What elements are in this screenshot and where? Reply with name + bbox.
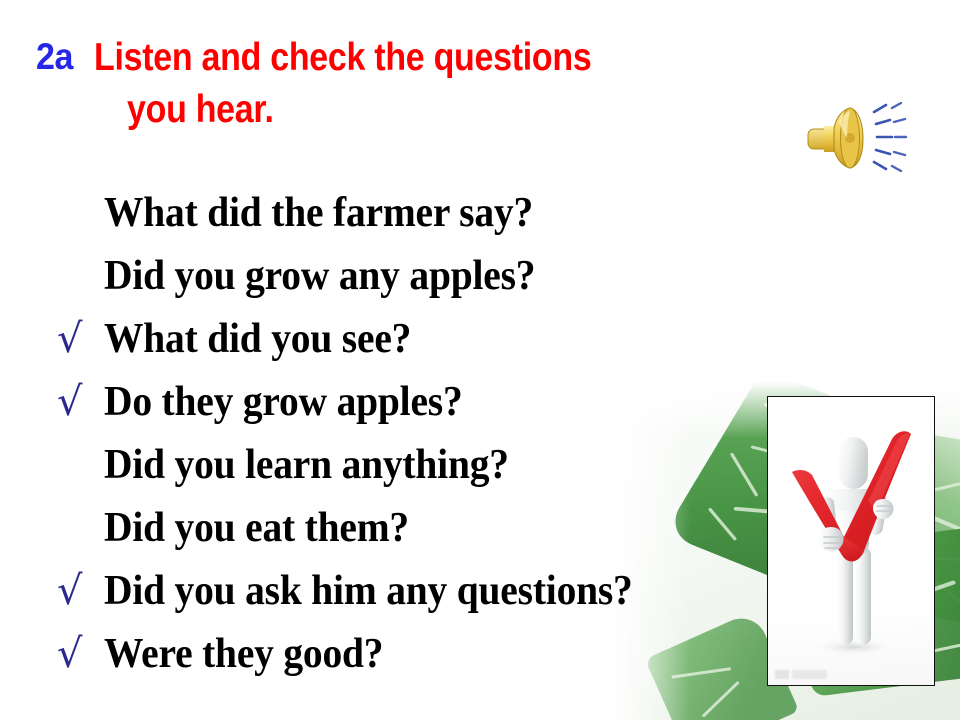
checkmark-icon-3: √	[57, 310, 91, 368]
question-row-8[interactable]: √ Were they good?	[0, 623, 960, 686]
question-row-7[interactable]: √ Did you ask him any questions?	[0, 560, 960, 623]
checkmark-icon-8: √	[57, 625, 91, 683]
question-row-4[interactable]: √ Do they grow apples?	[0, 371, 960, 434]
question-row-5[interactable]: √ Did you learn anything?	[0, 434, 960, 497]
question-text-7: Did you ask him any questions?	[104, 560, 633, 622]
slide-title-block: 2a Listen and check the questions you he…	[36, 32, 876, 136]
page-title-line-2: you hear.	[127, 84, 779, 136]
question-row-2[interactable]: √ Did you grow any apples?	[0, 245, 960, 308]
question-text-4: Do they grow apples?	[104, 371, 463, 433]
question-row-6[interactable]: √ Did you eat them?	[0, 497, 960, 560]
sound-speaker-icon[interactable]	[806, 102, 910, 172]
slide-canvas: 2a Listen and check the questions you he…	[0, 0, 960, 720]
question-text-2: Did you grow any apples?	[104, 245, 535, 307]
question-text-6: Did you eat them?	[104, 497, 409, 559]
question-row-3[interactable]: √ What did you see?	[0, 308, 960, 371]
title-first-row: 2a Listen and check the questions	[36, 32, 876, 84]
question-list: √ What did the farmer say? √ Did you gro…	[0, 182, 960, 686]
checkmark-icon-4: √	[57, 373, 91, 431]
question-text-5: Did you learn anything?	[104, 434, 509, 496]
exercise-number-label: 2a	[36, 32, 77, 82]
question-text-8: Were they good?	[104, 623, 383, 685]
page-title-line-1: Listen and check the questions	[94, 32, 591, 84]
question-text-1: What did the farmer say?	[104, 182, 533, 244]
checkmark-icon-7: √	[57, 562, 91, 620]
question-text-3: What did you see?	[104, 308, 411, 370]
question-row-1[interactable]: √ What did the farmer say?	[0, 182, 960, 245]
